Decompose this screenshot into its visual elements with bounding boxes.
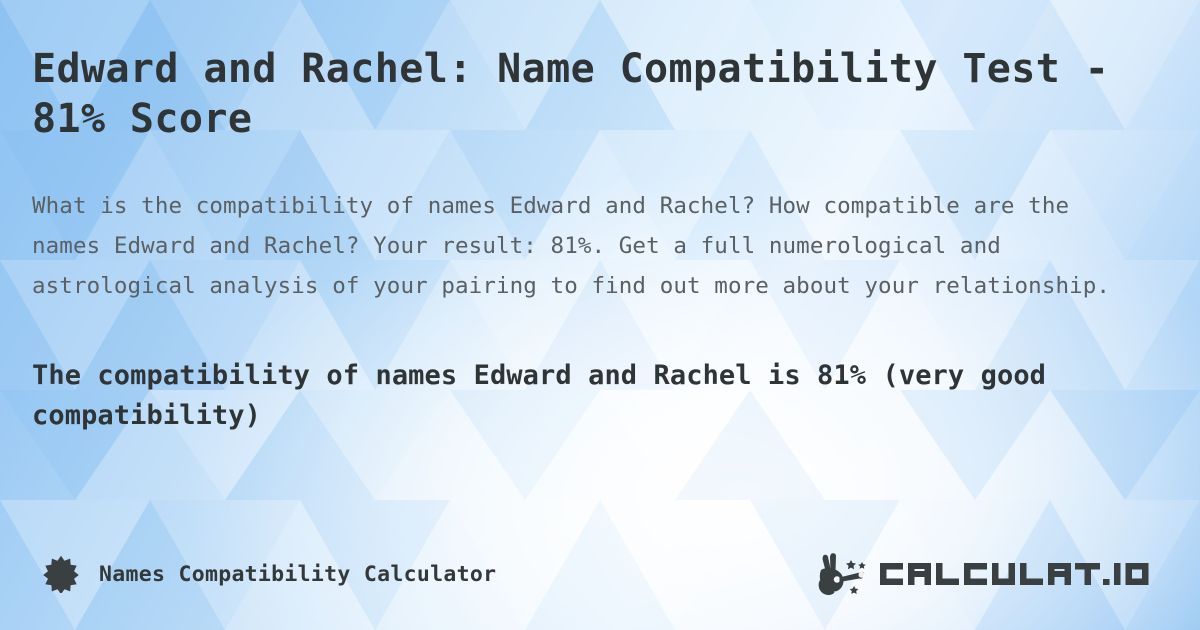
starburst-badge-icon xyxy=(42,555,80,593)
page-title: Edward and Rachel: Name Compatibility Te… xyxy=(32,44,1156,145)
tool-name-label: Names Compatibility Calculator xyxy=(99,562,496,587)
result-statement: The compatibility of names Edward and Ra… xyxy=(32,356,1162,435)
calculatio-wordmark xyxy=(877,554,1167,594)
social-share-card: Edward and Rachel: Name Compatibility Te… xyxy=(0,0,1200,630)
tool-branding: Names Compatibility Calculator xyxy=(42,547,496,601)
card-content: Edward and Rachel: Name Compatibility Te… xyxy=(32,0,1168,630)
site-logo[interactable]: CALCULAT.IO xyxy=(811,547,1167,601)
hand-holding-magic-wand-icon xyxy=(811,551,873,597)
intro-paragraph: What is the compatibility of names Edwar… xyxy=(32,186,1140,306)
card-footer: Names Compatibility Calculator xyxy=(32,547,1168,601)
